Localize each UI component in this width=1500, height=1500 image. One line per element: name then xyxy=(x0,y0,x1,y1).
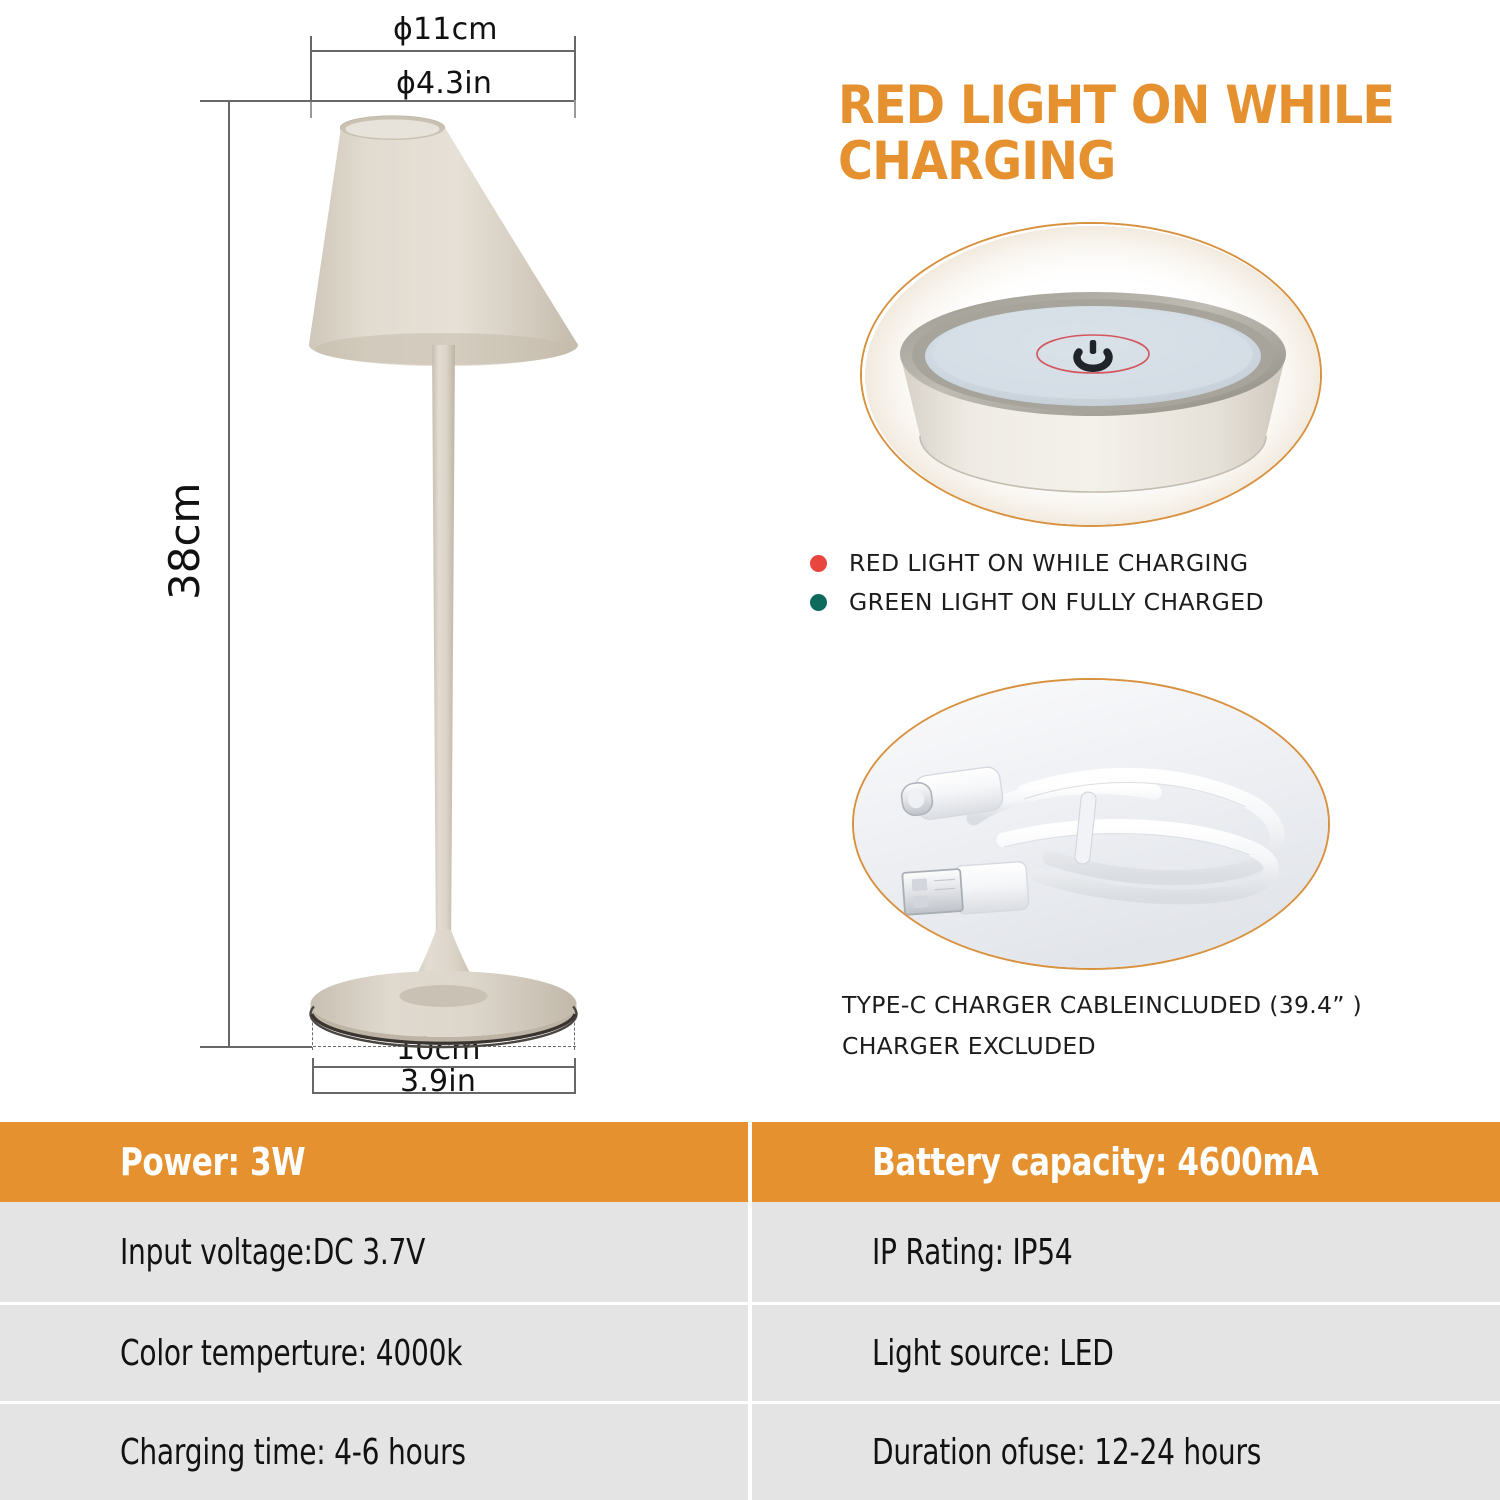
legend-item-green: GREEN LIGHT ON FULLY CHARGED xyxy=(810,588,1264,616)
lamp-base-photo xyxy=(860,222,1322,527)
cable-caption-line-2: CHARGER EXCLUDED xyxy=(842,1026,1362,1067)
spec-cell-light-source-label: Light source: LED xyxy=(872,1333,1114,1374)
charging-cable-photo xyxy=(852,678,1330,970)
cable-caption-line-1: TYPE-C CHARGER CABLEINCLUDED (39.4” ) xyxy=(842,985,1362,1026)
green-indicator-dot xyxy=(810,594,827,611)
spec-cell-charging-time-label: Charging time: 4-6 hours xyxy=(120,1432,466,1473)
spec-cell-color-temperature: Color temperture: 4000k xyxy=(0,1302,748,1401)
spec-cell-input-voltage-label: Input voltage:DC 3.7V xyxy=(120,1232,425,1273)
headline: RED LIGHT ON WHILE CHARGING xyxy=(838,78,1396,189)
table-lamp-illustration xyxy=(0,0,748,1120)
spec-header-battery: Battery capacity: 4600mA xyxy=(752,1122,1500,1202)
lamp-dimension-panel: ɸ11cm ɸ4.3in 38cm 10cm 3.9in xyxy=(0,0,748,1120)
lamp-base-power-button-illustration xyxy=(862,224,1322,527)
spec-cell-ip-rating-label: IP Rating: IP54 xyxy=(872,1232,1072,1273)
specification-table: Power: 3W Battery capacity: 4600mA Input… xyxy=(0,1122,1500,1500)
spec-header-battery-label: Battery capacity: 4600mA xyxy=(872,1140,1318,1184)
cable-caption: TYPE-C CHARGER CABLEINCLUDED (39.4” ) CH… xyxy=(842,985,1362,1067)
spec-cell-input-voltage: Input voltage:DC 3.7V xyxy=(0,1202,748,1302)
legend-label-red: RED LIGHT ON WHILE CHARGING xyxy=(849,549,1248,577)
legend-item-red: RED LIGHT ON WHILE CHARGING xyxy=(810,549,1248,577)
spec-cell-light-source: Light source: LED xyxy=(752,1302,1500,1401)
charging-info-panel: RED LIGHT ON WHILE CHARGING xyxy=(760,0,1500,1120)
spec-cell-duration-of-use-label: Duration ofuse: 12-24 hours xyxy=(872,1432,1261,1473)
red-indicator-dot xyxy=(810,555,827,572)
headline-line-1: RED LIGHT ON WHILE xyxy=(838,78,1396,134)
headline-line-2: CHARGING xyxy=(838,134,1396,190)
spec-cell-charging-time: Charging time: 4-6 hours xyxy=(0,1401,748,1500)
spec-header-power-label: Power: 3W xyxy=(120,1140,305,1184)
spec-cell-color-temperature-label: Color temperture: 4000k xyxy=(120,1333,462,1374)
legend-label-green: GREEN LIGHT ON FULLY CHARGED xyxy=(849,588,1264,616)
spec-header-power: Power: 3W xyxy=(0,1122,748,1202)
spec-cell-duration-of-use: Duration ofuse: 12-24 hours xyxy=(752,1401,1500,1500)
usb-cable-illustration xyxy=(854,680,1330,970)
product-diagram-area: ɸ11cm ɸ4.3in 38cm 10cm 3.9in xyxy=(0,0,1500,1120)
spec-cell-ip-rating: IP Rating: IP54 xyxy=(752,1202,1500,1302)
